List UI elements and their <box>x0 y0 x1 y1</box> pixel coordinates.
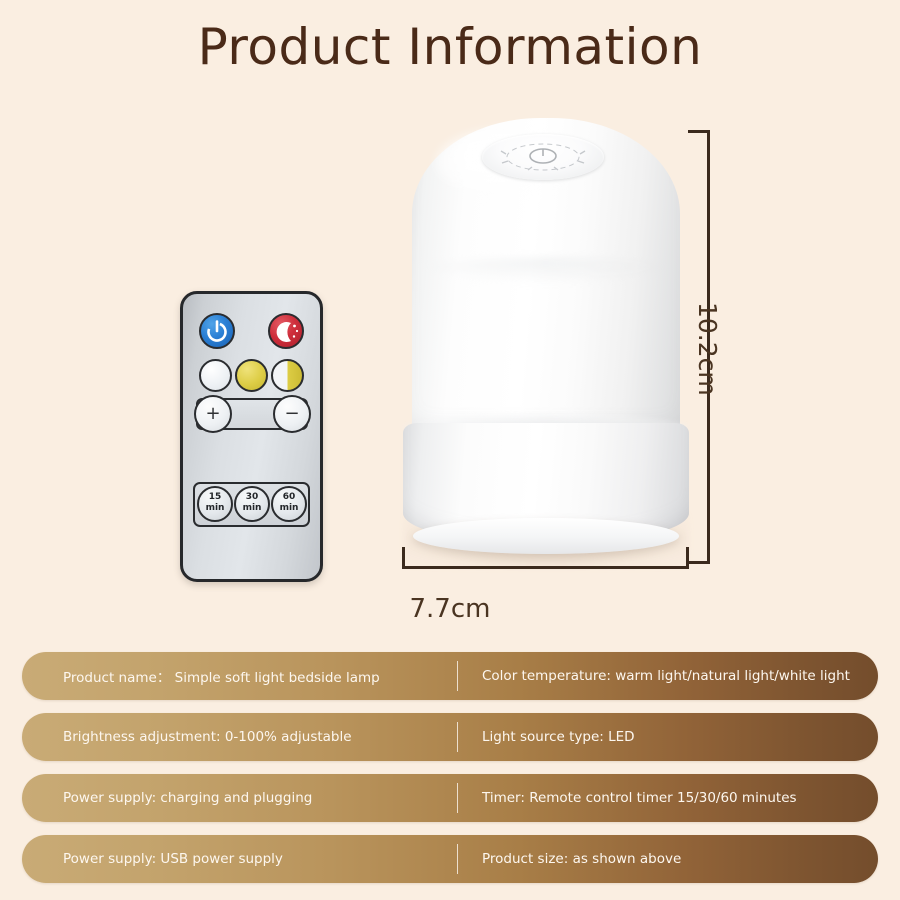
spec-table: Product name： Simple soft light bedside … <box>22 652 878 896</box>
spec-power-supply-usb: Power supply: USB power supply <box>22 851 457 867</box>
spec-brightness-adjustment: Brightness adjustment: 0-100% adjustable <box>22 729 457 745</box>
table-row: Product name： Simple soft light bedside … <box>22 652 878 700</box>
remote-timer-60-button[interactable]: 60 min <box>271 486 307 522</box>
width-bracket-right <box>686 547 689 569</box>
spec-product-size: Product size: as shown above <box>458 851 878 867</box>
timer-30-value: 30 <box>246 492 259 502</box>
plus-icon: + <box>196 397 230 431</box>
remote-white-light-button[interactable] <box>199 359 232 392</box>
remote-warm-light-button[interactable] <box>235 359 268 392</box>
spec-product-name: Product name： Simple soft light bedside … <box>22 666 457 686</box>
width-dimension-label: 7.7cm <box>0 594 900 624</box>
timer-30-unit: min <box>243 503 262 513</box>
moon-night-icon <box>270 315 302 347</box>
table-row: Power supply: USB power supply Product s… <box>22 835 878 883</box>
table-row: Power supply: charging and plugging Time… <box>22 774 878 822</box>
power-icon <box>201 315 233 347</box>
product-information-page: Product Information 10.2cm 7.7cm <box>0 0 900 900</box>
remote-brightness-down-button[interactable]: − <box>273 395 311 433</box>
remote-timer-30-button[interactable]: 30 min <box>234 486 270 522</box>
page-title: Product Information <box>0 18 900 76</box>
height-dimension-label: 10.2cm <box>693 302 722 396</box>
timer-15-value: 15 <box>209 492 222 502</box>
spec-power-supply-charging: Power supply: charging and plugging <box>22 790 457 806</box>
table-row: Brightness adjustment: 0-100% adjustable… <box>22 713 878 761</box>
lamp-product-image <box>396 118 696 573</box>
lamp-seam <box>418 258 674 284</box>
spec-color-temperature: Color temperature: warm light/natural li… <box>458 668 878 684</box>
spec-timer: Timer: Remote control timer 15/30/60 min… <box>458 790 878 806</box>
spec-light-source-type: Light source type: LED <box>458 729 878 745</box>
remote-night-light-button[interactable] <box>268 313 304 349</box>
lamp-base-bottom-edge <box>413 518 679 554</box>
minus-icon: − <box>275 397 309 431</box>
remote-control: + − 15 min 30 min 60 min <box>180 291 323 582</box>
timer-15-unit: min <box>206 503 225 513</box>
timer-60-value: 60 <box>283 492 296 502</box>
remote-natural-light-button[interactable] <box>271 359 304 392</box>
remote-power-button[interactable] <box>199 313 235 349</box>
timer-60-unit: min <box>280 503 299 513</box>
width-bracket-horizontal <box>402 566 689 569</box>
height-bracket-bottom <box>688 561 710 564</box>
remote-timer-15-button[interactable]: 15 min <box>197 486 233 522</box>
power-touch-icon <box>482 134 604 180</box>
remote-brightness-up-button[interactable]: + <box>194 395 232 433</box>
